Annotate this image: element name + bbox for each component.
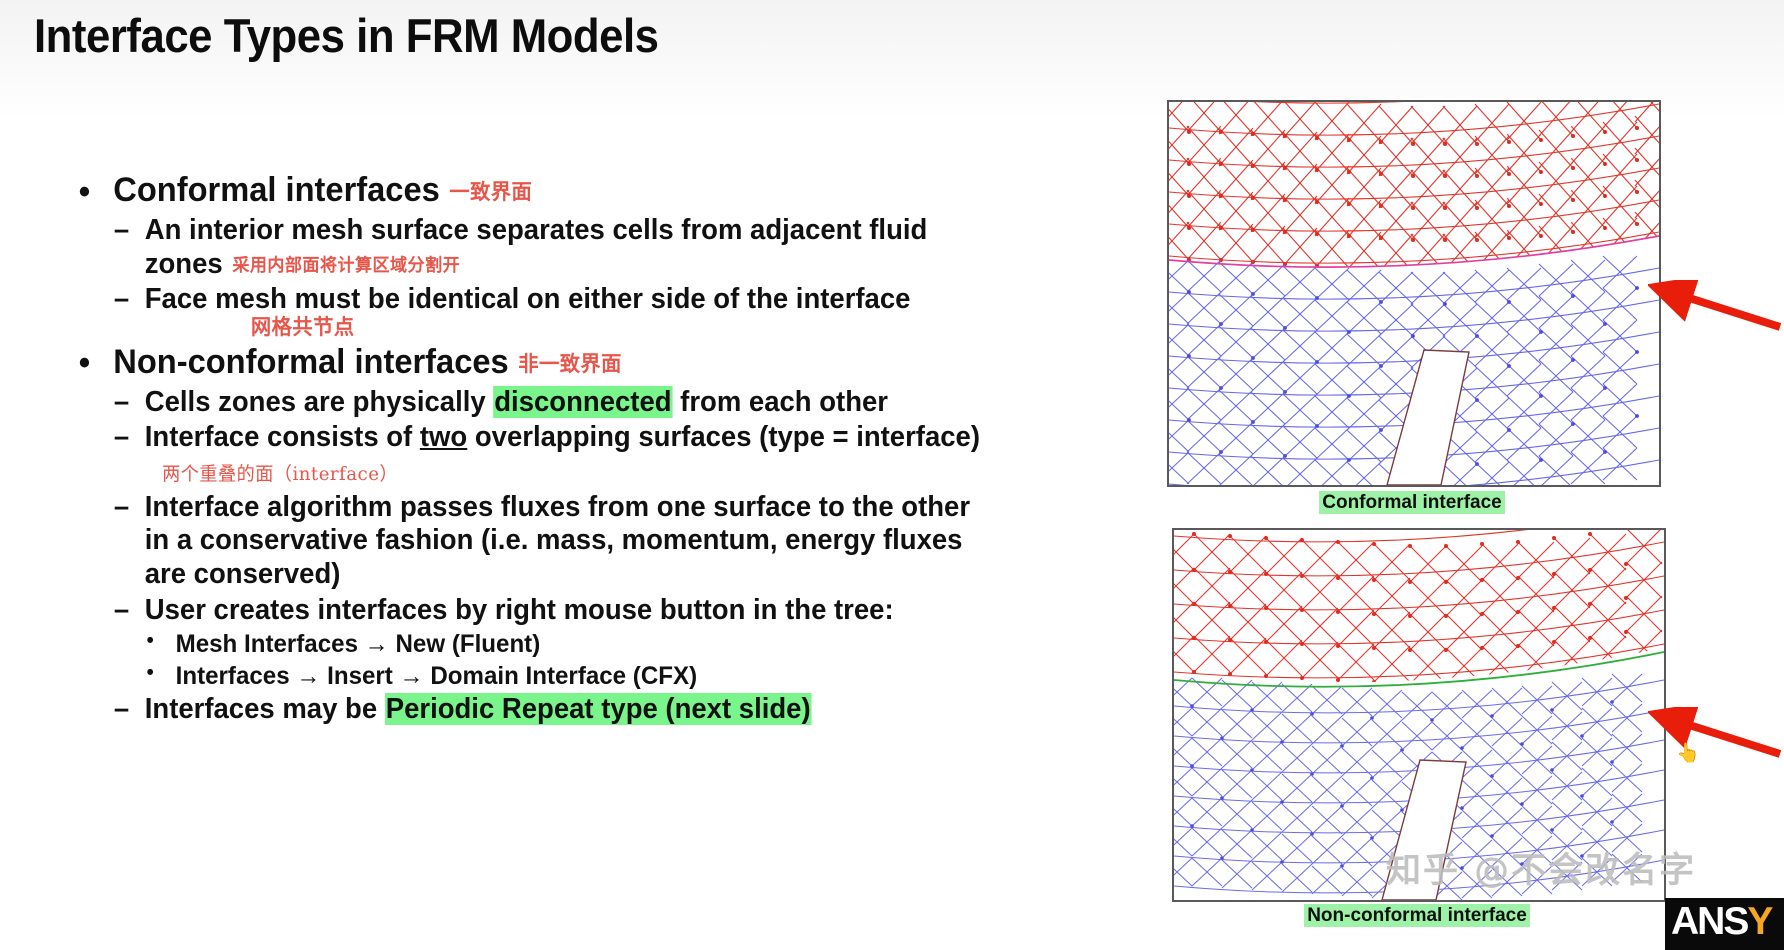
bullet-nc-sub4-text: User creates interfaces by right mouse b… (145, 594, 894, 626)
bullet-conformal-heading: •Conformal interfaces一致界面 (0, 170, 989, 210)
bullet-conformal-heading-annotation: 一致界面 (440, 179, 532, 204)
dash-icon: – (114, 594, 129, 628)
highlight-periodic-repeat: Periodic Repeat type (next slide) (385, 693, 812, 725)
bullet-nonconformal-heading-annotation: 非一致界面 (509, 351, 622, 376)
bullet-dot-icon: • (79, 343, 90, 383)
bullet-nc-sub5-prefix: Interfaces may be (145, 693, 385, 725)
ansys-logo-accent: Y (1747, 900, 1771, 943)
bullet-nc-sub4: –User creates interfaces by right mouse … (0, 594, 994, 628)
bullet-nonconformal-heading: •Non-conformal interfaces非一致界面 (0, 342, 989, 382)
bullet-conformal-sub1-annotation: 采用内部面将计算区域分割开 (223, 256, 460, 276)
bullet-conformal-heading-text: Conformal interfaces (113, 171, 439, 209)
bullet-nc-sub5: –Interfaces may be Periodic Repeat type … (0, 693, 994, 727)
bullet-nc-sub4-item2: •Interfaces → Insert → Domain Interface … (0, 661, 994, 691)
ansys-logo-main: ANS (1671, 900, 1747, 943)
bullet-nc-sub2-annotation: 两个重叠的面（interface） (145, 464, 398, 485)
watermark: 知乎 @不会改名字 (1386, 842, 1696, 893)
pointer-arrow-top-icon (1648, 280, 1784, 335)
underline-two: two (420, 421, 467, 453)
bullet-nc-sub3: –Interface algorithm passes fluxes from … (0, 491, 994, 592)
ansys-logo-text: ANSY (1671, 900, 1771, 944)
nonconformal-figure-caption: Non-conformal interface (1172, 905, 1662, 927)
dash-icon: – (114, 283, 129, 317)
pointer-arrow-bottom-icon (1648, 707, 1784, 762)
bullet-nc-sub4-item2-text: Interfaces → Insert → Domain Interface (… (176, 662, 697, 690)
mouse-cursor-icon: 👆 (1676, 744, 1700, 763)
bullet-nc-sub3-text: Interface algorithm passes fluxes from o… (145, 491, 970, 590)
bullet-nc-sub1-prefix: Cells zones are physically (145, 386, 494, 418)
conformal-figure-caption: Conformal interface (1167, 492, 1657, 514)
bullet-nc-sub2: –Interface consists of two overlapping s… (0, 421, 994, 488)
page-title: Interface Types in FRM Models (34, 8, 658, 63)
bullet-nc-sub4-item1: •Mesh Interfaces → New (Fluent) (0, 629, 994, 659)
bullet-conformal-sub2-annotation: 网格共节点 (251, 315, 994, 340)
bullet-conformal-sub2: –Face mesh must be identical on either s… (0, 283, 994, 339)
conformal-mesh-svg (1169, 102, 1659, 485)
ansys-logo: ANSY (1665, 898, 1784, 950)
bullet-dot-icon: • (147, 628, 154, 653)
bullet-nc-sub2-prefix: Interface consists of (145, 421, 420, 453)
dash-icon: – (114, 491, 129, 525)
dash-icon: – (114, 421, 129, 455)
highlight-disconnected: disconnected (493, 386, 672, 418)
bullet-nc-sub4-item1-text: Mesh Interfaces → New (Fluent) (176, 630, 541, 658)
dash-icon: – (114, 214, 129, 248)
bullet-nc-sub2-suffix: overlapping surfaces (type = interface) (467, 421, 980, 453)
bullet-nc-sub1-suffix: from each other (673, 386, 888, 418)
bullet-nonconformal-heading-text: Non-conformal interfaces (113, 343, 508, 381)
bullet-conformal-sub2-text: Face mesh must be identical on either si… (145, 283, 911, 315)
bullet-conformal-sub1: –An interior mesh surface separates cell… (0, 214, 994, 281)
dash-icon: – (114, 386, 129, 420)
bullet-nc-sub1: –Cells zones are physically disconnected… (0, 386, 994, 420)
bullet-dot-icon: • (147, 660, 154, 685)
slide-canvas: Interface Types in FRM Models •Conformal… (0, 0, 1784, 950)
bullet-dot-icon: • (79, 172, 90, 212)
dash-icon: – (114, 693, 129, 727)
conformal-mesh-figure (1167, 100, 1661, 487)
bullet-list: •Conformal interfaces一致界面 –An interior m… (0, 170, 1030, 729)
